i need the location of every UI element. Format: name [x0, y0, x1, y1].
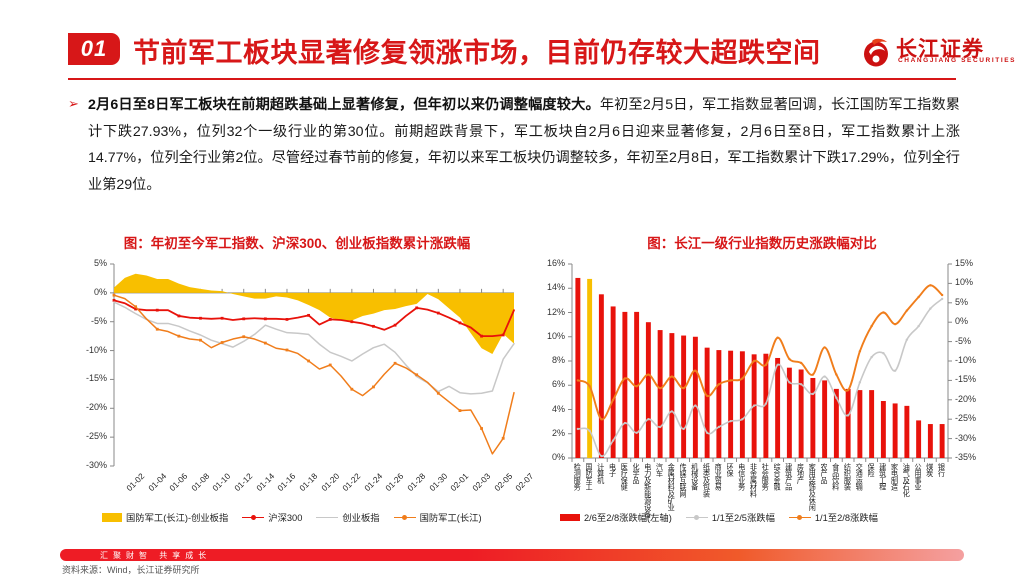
legend-label: 沪深300	[268, 510, 302, 524]
y-axis-label: 10%	[532, 331, 565, 341]
y2-axis-label: -30%	[955, 433, 976, 443]
legend-item: 2/6至2/8涨跌幅(左轴)	[560, 510, 672, 524]
x-axis-label-wrap: 机械设备	[691, 463, 700, 537]
y-axis-label: -20%	[72, 402, 107, 412]
left-chart-svg	[72, 256, 522, 542]
x-axis-label: 食品饮料	[832, 463, 839, 490]
legend-item: 国防军工(长江)	[394, 510, 482, 524]
x-axis-label-wrap: 交通运输	[856, 463, 865, 537]
x-axis-label: 家电制造	[891, 463, 898, 490]
x-axis-label: 机械设备	[691, 463, 698, 490]
y2-axis-label: -25%	[955, 413, 976, 423]
legend-item: 1/1至2/8涨跌幅	[789, 510, 878, 524]
y-axis-label: 14%	[532, 282, 565, 292]
left-chart-panel: 图：年初至今军工指数、沪深300、创业板指数累计涨跌幅 5%0%-5%-10%-…	[72, 232, 522, 542]
x-axis-label-wrap: 保险	[868, 463, 877, 537]
logo-mark-icon	[862, 35, 892, 67]
x-axis-label: 传媒互联网	[680, 463, 687, 497]
legend-swatch	[242, 513, 264, 522]
y2-axis-label: -10%	[955, 355, 976, 365]
x-axis-label-wrap: 农产品	[821, 463, 830, 537]
y2-axis-label: 15%	[955, 258, 973, 268]
x-axis-label-wrap: 计算机	[597, 463, 606, 537]
x-axis-label-wrap: 家用装饰及休闲	[809, 463, 818, 537]
x-axis-label: 化学品	[633, 463, 640, 483]
x-axis-label-wrap: 房地产	[797, 463, 806, 537]
legend-label: 1/1至2/5涨跌幅	[712, 510, 775, 524]
legend-item: 创业板指	[316, 510, 379, 524]
x-axis-label-wrap: 煤炭	[926, 463, 935, 537]
legend-swatch	[686, 513, 708, 522]
y-axis-label: 2%	[532, 428, 565, 438]
x-axis-label: 金属材料及矿业	[668, 463, 675, 511]
x-axis-label-wrap: 银行	[938, 463, 947, 537]
x-axis-label-wrap: 传媒互联网	[680, 463, 689, 537]
x-axis-label-wrap: 油气及石化	[903, 463, 912, 537]
x-axis-label-wrap: 食品饮料	[832, 463, 841, 537]
x-axis-label: 油气及石化	[903, 463, 910, 497]
footer-source: 资料来源：Wind，长江证券研究所	[62, 563, 200, 576]
right-chart-plot: 0%2%4%6%8%10%12%14%16%15%10%5%0%-5%-10%-…	[532, 256, 992, 542]
x-axis-label-wrap: 建筑产品	[785, 463, 794, 537]
legend-swatch	[560, 514, 580, 521]
y2-axis-label: 10%	[955, 277, 973, 287]
x-axis-label-wrap: 医疗保健	[621, 463, 630, 537]
y2-axis-label: -20%	[955, 394, 976, 404]
legend-swatch	[316, 513, 338, 522]
x-axis-label: 社会服务	[762, 463, 769, 490]
x-axis-label-wrap: 检测服务	[574, 463, 583, 537]
y-axis-label: -10%	[72, 345, 107, 355]
x-axis-label: 计算机	[597, 463, 604, 483]
x-axis-label: 国防军工	[586, 463, 593, 490]
legend-label: 1/1至2/8涨跌幅	[815, 510, 878, 524]
y-axis-label: -25%	[72, 431, 107, 441]
body-paragraph: 2月6日至8日军工板块在前期超跌基础上显著修复，但年初以来仍调整幅度较大。年初至…	[88, 92, 960, 198]
x-axis-label: 建筑工程	[879, 463, 886, 490]
y2-axis-label: -15%	[955, 374, 976, 384]
x-axis-label-wrap: 国防军工	[586, 463, 595, 537]
x-axis-label: 汽车	[656, 463, 663, 477]
x-axis-label-wrap: 环保	[727, 463, 736, 537]
x-axis-label: 非金属材料	[750, 463, 757, 497]
section-number-badge: 01	[68, 33, 120, 65]
y-axis-label: 12%	[532, 307, 565, 317]
legend-swatch	[102, 513, 122, 522]
x-axis-label: 交通运输	[856, 463, 863, 490]
x-axis-label: 银行	[938, 463, 945, 477]
x-axis-label: 商业贸易	[715, 463, 722, 490]
x-axis-label-wrap: 金属材料及矿业	[668, 463, 677, 537]
y2-axis-label: 0%	[955, 316, 968, 326]
y-axis-label: 8%	[532, 355, 565, 365]
x-axis-label: 综合金融	[774, 463, 781, 490]
left-chart-plot: 5%0%-5%-10%-15%-20%-25%-30%01-0201-0401-…	[72, 256, 522, 542]
x-axis-label: 家用装饰及休闲	[809, 463, 816, 511]
x-axis-label-wrap: 商业贸易	[715, 463, 724, 537]
legend-swatch	[789, 513, 811, 522]
legend-label: 创业板指	[342, 510, 379, 524]
right-chart-panel: 图：长江一级行业指数历史涨跌幅对比 0%2%4%6%8%10%12%14%16%…	[532, 232, 992, 542]
y-axis-label: 6%	[532, 379, 565, 389]
x-axis-label-wrap: 电力及新能源设备	[644, 463, 653, 537]
y2-axis-label: -35%	[955, 452, 976, 462]
x-axis-label: 纺织服装	[844, 463, 851, 490]
x-axis-label: 保险	[868, 463, 875, 477]
y-axis-label: -5%	[72, 316, 107, 326]
x-axis-label: 医疗保健	[621, 463, 628, 490]
x-axis-label-wrap: 化学品	[633, 463, 642, 537]
x-axis-label-wrap: 社会服务	[762, 463, 771, 537]
y-axis-label: -15%	[72, 373, 107, 383]
y-axis-label: -30%	[72, 460, 107, 470]
x-axis-label-wrap: 公用事业	[915, 463, 924, 537]
footer-slogan: 汇聚财智 共享成长	[100, 550, 211, 561]
legend-label: 国防军工(长江)-创业板指	[126, 510, 228, 524]
x-axis-label: 公用事业	[915, 463, 922, 490]
legend-item: 沪深300	[242, 510, 302, 524]
legend-marker	[402, 515, 407, 520]
bullet-arrow-icon: ➢	[68, 96, 79, 112]
x-axis-label: 电子	[609, 463, 616, 477]
y-axis-label: 5%	[72, 258, 107, 268]
paragraph-lead: 2月6日至8日军工板块在前期超跌基础上显著修复，但年初以来仍调整幅度较大。	[88, 97, 600, 113]
x-axis-label: 建筑产品	[785, 463, 792, 490]
y2-axis-label: 5%	[955, 297, 968, 307]
x-axis-label-wrap: 汽车	[656, 463, 665, 537]
legend-label: 国防军工(长江)	[420, 510, 482, 524]
y2-axis-label: -5%	[955, 336, 971, 346]
x-axis-label: 农产品	[821, 463, 828, 483]
x-axis-label: 煤炭	[926, 463, 933, 477]
legend-marker	[797, 515, 802, 520]
right-chart-title: 图：长江一级行业指数历史涨跌幅对比	[532, 232, 992, 252]
x-axis-label-wrap: 电子	[609, 463, 618, 537]
x-axis-label-wrap: 电信业务	[738, 463, 747, 537]
x-axis-label: 纸类及包装	[703, 463, 710, 497]
y-axis-label: 0%	[72, 287, 107, 297]
y-axis-label: 0%	[532, 452, 565, 462]
legend-line	[316, 517, 338, 519]
x-axis-label-wrap: 纺织服装	[844, 463, 853, 537]
legend-marker	[251, 515, 256, 520]
x-axis-label-wrap: 非金属材料	[750, 463, 759, 537]
x-axis-label: 房地产	[797, 463, 804, 483]
x-axis-label: 电信业务	[738, 463, 745, 490]
logo-subtitle: CHANGJIANG SECURITIES	[898, 57, 1016, 64]
legend-marker	[694, 515, 699, 520]
legend-item: 国防军工(长江)-创业板指	[102, 510, 228, 524]
company-logo: 长江证券 CHANGJIANG SECURITIES	[862, 33, 990, 73]
left-chart-title: 图：年初至今军工指数、沪深300、创业板指数累计涨跌幅	[72, 232, 522, 252]
header-divider	[68, 78, 956, 80]
x-axis-label: 检测服务	[574, 463, 581, 490]
left-chart-legend: 国防军工(长江)-创业板指沪深300创业板指国防军工(长江)	[102, 510, 496, 524]
x-axis-label-wrap: 家电制造	[891, 463, 900, 537]
x-axis-label-wrap: 建筑工程	[879, 463, 888, 537]
y-axis-label: 16%	[532, 258, 565, 268]
x-axis-label-wrap: 综合金融	[774, 463, 783, 537]
legend-item: 1/1至2/5涨跌幅	[686, 510, 775, 524]
y-axis-label: 4%	[532, 404, 565, 414]
legend-swatch	[394, 513, 416, 522]
page-title: 节前军工板块显著修复领涨市场，目前仍存较大超跌空间	[133, 31, 821, 70]
right-chart-legend: 2/6至2/8涨跌幅(左轴)1/1至2/5涨跌幅1/1至2/8涨跌幅	[560, 510, 892, 524]
legend-label: 2/6至2/8涨跌幅(左轴)	[584, 510, 672, 524]
x-axis-label: 环保	[727, 463, 734, 477]
x-axis-label-wrap: 纸类及包装	[703, 463, 712, 537]
